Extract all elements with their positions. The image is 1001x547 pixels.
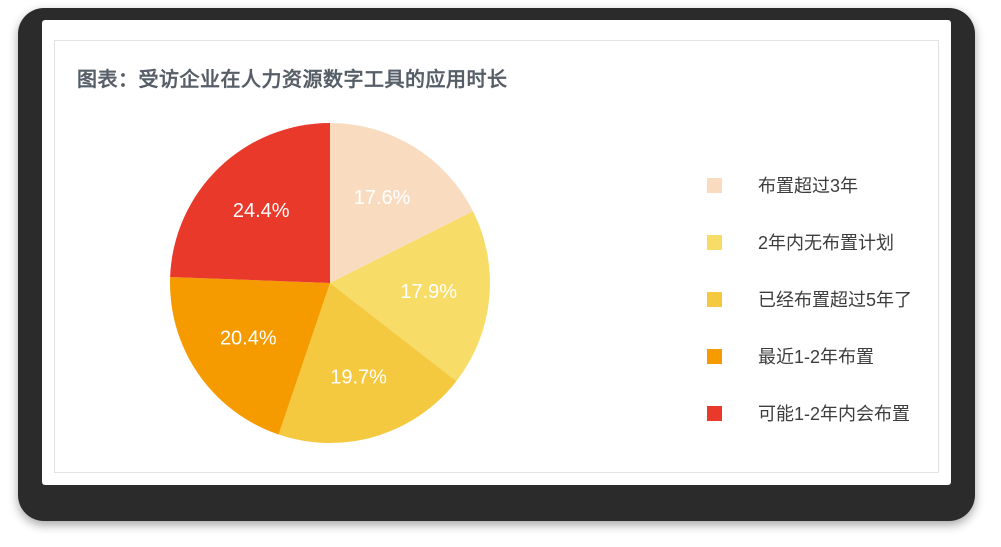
legend-item[interactable]: 最近1-2年布置 — [707, 328, 957, 385]
pie-slice-value-label: 17.9% — [400, 281, 457, 303]
pie-slice-value-label: 19.7% — [330, 366, 387, 388]
chart-card: 图表：受访企业在人力资源数字工具的应用时长 17.6%17.9%19.7%20.… — [54, 40, 939, 473]
legend-item-label: 2年内无布置计划 — [758, 234, 894, 252]
screenshot-root: 图表：受访企业在人力资源数字工具的应用时长 17.6%17.9%19.7%20.… — [0, 0, 1001, 547]
legend-item[interactable]: 布置超过3年 — [707, 157, 957, 214]
legend-swatch-icon — [707, 406, 722, 421]
legend-swatch-icon — [707, 292, 722, 307]
legend-swatch-icon — [707, 178, 722, 193]
device-frame: 图表：受访企业在人力资源数字工具的应用时长 17.6%17.9%19.7%20.… — [18, 8, 975, 521]
legend-item[interactable]: 已经布置超过5年了 — [707, 271, 957, 328]
legend-item[interactable]: 可能1-2年内会布置 — [707, 385, 957, 442]
chart-legend: 布置超过3年2年内无布置计划已经布置超过5年了最近1-2年布置可能1-2年内会布… — [707, 157, 957, 442]
pie-chart: 17.6%17.9%19.7%20.4%24.4% — [160, 113, 500, 453]
legend-item[interactable]: 2年内无布置计划 — [707, 214, 957, 271]
legend-item-label: 可能1-2年内会布置 — [758, 405, 910, 423]
legend-item-label: 布置超过3年 — [758, 177, 858, 195]
chart-title: 图表：受访企业在人力资源数字工具的应用时长 — [77, 63, 508, 92]
screen-surface: 图表：受访企业在人力资源数字工具的应用时长 17.6%17.9%19.7%20.… — [42, 20, 951, 485]
legend-item-label: 已经布置超过5年了 — [758, 291, 912, 309]
legend-swatch-icon — [707, 235, 722, 250]
pie-slice-value-label: 24.4% — [233, 200, 290, 222]
legend-swatch-icon — [707, 349, 722, 364]
pie-chart-plot-area: 17.6%17.9%19.7%20.4%24.4% — [55, 93, 615, 473]
pie-slice-value-label: 17.6% — [354, 187, 411, 209]
pie-slice-value-label: 20.4% — [220, 328, 277, 350]
legend-item-label: 最近1-2年布置 — [758, 348, 874, 366]
